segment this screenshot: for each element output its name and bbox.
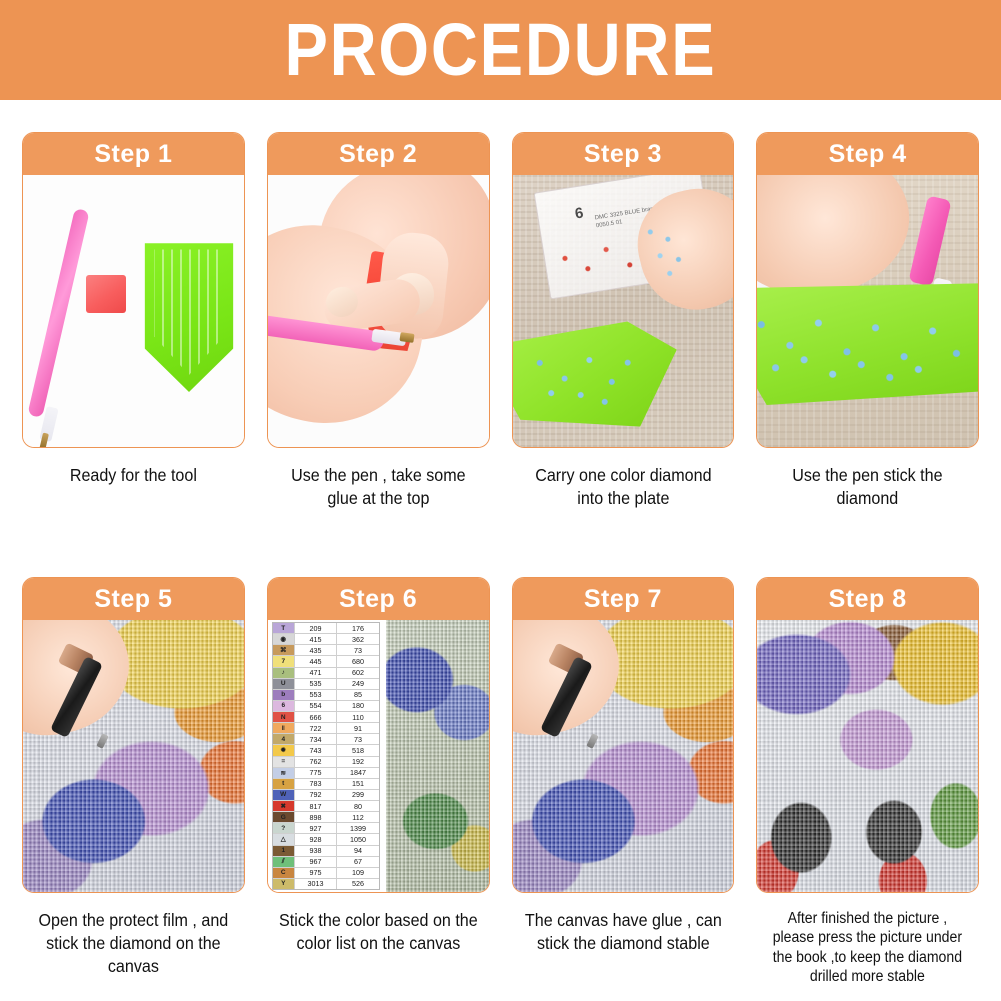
color-count-value: 602 <box>337 668 379 678</box>
color-chart-row: N666110 <box>273 712 379 723</box>
color-code-value: 975 <box>295 868 338 878</box>
procedure-infographic: PROCEDURE Step 1 Ready for the tool <box>0 0 1001 1001</box>
color-count-value: 680 <box>337 656 379 666</box>
step-1-card: Step 1 <box>22 132 245 448</box>
step-card-2: Step 2 Use the pen , take so <box>267 132 490 510</box>
color-chart-row: ⫽96767 <box>273 857 379 868</box>
color-symbol-swatch: 1 <box>273 846 295 856</box>
color-code-value: 762 <box>295 757 338 767</box>
step-6-label: Step 6 <box>339 585 417 614</box>
color-count-value: 1399 <box>337 823 379 833</box>
color-chart-row: ‖72291 <box>273 723 379 734</box>
color-chart-row: b55385 <box>273 690 379 701</box>
blue-diamonds-in-tray <box>757 307 978 387</box>
color-chart-row: 193894 <box>273 846 379 857</box>
color-count-value: 180 <box>337 701 379 711</box>
color-count-value: 73 <box>337 645 379 655</box>
color-symbol-swatch: 4 <box>273 734 295 744</box>
color-code-value: 435 <box>295 645 338 655</box>
step-4-card: Step 4 <box>756 132 979 448</box>
color-code-value: 535 <box>295 679 338 689</box>
color-chart-row: 7445680 <box>273 656 379 667</box>
step-4-label: Step 4 <box>829 140 907 169</box>
color-chart-row: 473473 <box>273 734 379 745</box>
step-5-header: Step 5 <box>23 578 244 620</box>
step-2-label: Step 2 <box>339 140 417 169</box>
color-code-value: 898 <box>295 812 338 822</box>
color-symbol-swatch: ? <box>273 823 295 833</box>
step-6-card: Step 6 T209176◉415362⌘435737445680♪47160… <box>267 577 490 893</box>
color-chart-row: 6554180 <box>273 701 379 712</box>
step-5-photo <box>23 620 244 892</box>
color-symbol-swatch: ≋ <box>273 768 295 778</box>
mosaic-canvas <box>386 620 489 892</box>
step-8-caption: After finished the picture , please pres… <box>765 909 970 987</box>
color-chart-row: G898112 <box>273 812 379 823</box>
color-symbol-swatch: = <box>273 757 295 767</box>
page-title: PROCEDURE <box>285 13 717 87</box>
color-count-value: 1050 <box>337 834 379 844</box>
color-count-value: 151 <box>337 779 379 789</box>
color-chart-row: ⌘43573 <box>273 645 379 656</box>
color-symbol-swatch: ♪ <box>273 668 295 678</box>
step-7-card: Step 7 <box>512 577 735 893</box>
color-symbol-swatch: Y <box>273 879 295 889</box>
step-4-photo <box>757 175 978 447</box>
step-card-3: Step 3 6 DMC 3325 BLUE brand 0050.5 01 C… <box>512 132 735 510</box>
color-code-value: 3013 <box>295 879 338 889</box>
color-symbol-swatch: C <box>273 868 295 878</box>
color-count-value: 110 <box>337 712 379 722</box>
color-count-value: 73 <box>337 734 379 744</box>
color-code-value: 734 <box>295 734 338 744</box>
blue-diamonds-in-tray <box>513 335 664 421</box>
color-code-value: 967 <box>295 857 338 867</box>
color-code-value: 743 <box>295 745 338 755</box>
color-code-value: 928 <box>295 834 338 844</box>
color-chart-row: C975109 <box>273 868 379 879</box>
step-1-photo <box>23 175 244 447</box>
color-symbol-swatch: ⌘ <box>273 645 295 655</box>
step-6-caption: Stick the color based on the color list … <box>276 909 481 955</box>
step-card-7: Step 7 The canvas have glue , can stick … <box>512 577 735 987</box>
color-code-value: 554 <box>295 701 338 711</box>
color-count-value: 192 <box>337 757 379 767</box>
step-7-caption: The canvas have glue , can stick the dia… <box>520 909 725 955</box>
step-3-label: Step 3 <box>584 140 662 169</box>
color-code-value: 792 <box>295 790 338 800</box>
color-symbol-swatch: U <box>273 679 295 689</box>
color-symbol-swatch: N <box>273 712 295 722</box>
step-card-6: Step 6 T209176◉415362⌘435737445680♪47160… <box>267 577 490 987</box>
color-symbol-swatch: ⫽ <box>273 857 295 867</box>
step-3-photo: 6 DMC 3325 BLUE brand 0050.5 01 <box>513 175 734 447</box>
step-4-caption: Use the pen stick the diamond <box>765 464 970 510</box>
color-code-value: 722 <box>295 723 338 733</box>
color-code-value: 209 <box>295 623 338 633</box>
color-count-value: 94 <box>337 846 379 856</box>
color-count-value: 85 <box>337 690 379 700</box>
glue-square-icon <box>86 275 126 313</box>
color-chart-row: W792299 <box>273 790 379 801</box>
color-chart-row: ◉415362 <box>273 634 379 645</box>
step-7-label: Step 7 <box>584 585 662 614</box>
color-chart-row: Y3013526 <box>273 879 379 889</box>
color-count-value: 67 <box>337 857 379 867</box>
color-code-value: 553 <box>295 690 338 700</box>
color-chart-row: ♪471602 <box>273 668 379 679</box>
step-8-card: Step 8 <box>756 577 979 893</box>
color-symbol-swatch: ◉ <box>273 634 295 644</box>
step-1-label: Step 1 <box>94 140 172 169</box>
color-count-value: 109 <box>337 868 379 878</box>
color-code-value: 445 <box>295 656 338 666</box>
color-count-value: 1847 <box>337 768 379 778</box>
color-code-chart: T209176◉415362⌘435737445680♪471602U53524… <box>272 622 380 890</box>
color-symbol-swatch: ✖ <box>273 801 295 811</box>
color-count-value: 362 <box>337 634 379 644</box>
color-symbol-swatch: b <box>273 690 295 700</box>
step-6-photo: T209176◉415362⌘435737445680♪471602U53524… <box>268 620 489 892</box>
step-4-header: Step 4 <box>757 133 978 175</box>
color-chart-row: U535249 <box>273 679 379 690</box>
step-8-photo <box>757 620 978 892</box>
color-code-value: 471 <box>295 668 338 678</box>
color-code-value: 938 <box>295 846 338 856</box>
step-8-label: Step 8 <box>829 585 907 614</box>
color-symbol-swatch: 7 <box>273 656 295 666</box>
color-symbol-swatch: ✹ <box>273 745 295 755</box>
color-count-value: 91 <box>337 723 379 733</box>
step-2-photo <box>268 175 489 447</box>
step-card-4: Step 4 Use the pen stick the diamond <box>756 132 979 510</box>
color-code-value: 415 <box>295 634 338 644</box>
color-chart-row: ?9271399 <box>273 823 379 834</box>
step-1-caption: Ready for the tool <box>31 464 236 487</box>
color-symbol-swatch: t <box>273 779 295 789</box>
color-count-value: 526 <box>337 879 379 889</box>
color-chart-row: ✖81780 <box>273 801 379 812</box>
color-count-value: 80 <box>337 801 379 811</box>
color-chart-row: t783151 <box>273 779 379 790</box>
color-code-value: 775 <box>295 768 338 778</box>
color-symbol-swatch: T <box>273 623 295 633</box>
steps-row-1: Step 1 Ready for the tool Step 2 <box>22 132 979 510</box>
step-5-card: Step 5 <box>22 577 245 893</box>
color-symbol-swatch: G <box>273 812 295 822</box>
color-symbol-swatch: △ <box>273 834 295 844</box>
color-count-value: 249 <box>337 679 379 689</box>
color-chart-row: △9281050 <box>273 834 379 845</box>
step-3-card: Step 3 6 DMC 3325 BLUE brand 0050.5 01 <box>512 132 735 448</box>
step-8-header: Step 8 <box>757 578 978 620</box>
color-code-value: 927 <box>295 823 338 833</box>
color-symbol-swatch: ‖ <box>273 723 295 733</box>
step-card-1: Step 1 Ready for the tool <box>22 132 245 510</box>
color-chart-row: T209176 <box>273 623 379 634</box>
page-banner: PROCEDURE <box>0 0 1001 100</box>
step-card-5: Step 5 Open the protect film , and stick… <box>22 577 245 987</box>
color-code-value: 666 <box>295 712 338 722</box>
color-code-value: 783 <box>295 779 338 789</box>
pink-pen-icon <box>27 208 89 418</box>
step-7-header: Step 7 <box>513 578 734 620</box>
color-chart-row: =762192 <box>273 757 379 768</box>
step-1-header: Step 1 <box>23 133 244 175</box>
step-2-caption: Use the pen , take some glue at the top <box>276 464 481 510</box>
color-symbol-swatch: 6 <box>273 701 295 711</box>
color-chart-row: ≋7751847 <box>273 768 379 779</box>
steps-row-2: Step 5 Open the protect film , and stick… <box>22 577 979 987</box>
color-code-value: 817 <box>295 801 338 811</box>
color-count-value: 176 <box>337 623 379 633</box>
step-7-photo <box>513 620 734 892</box>
color-count-value: 518 <box>337 745 379 755</box>
step-5-label: Step 5 <box>94 585 172 614</box>
color-count-value: 112 <box>337 812 379 822</box>
step-5-caption: Open the protect film , and stick the di… <box>31 909 236 978</box>
color-chart-row: ✹743518 <box>273 745 379 756</box>
color-count-value: 299 <box>337 790 379 800</box>
pen-nib-icon <box>399 332 414 343</box>
step-2-card: Step 2 <box>267 132 490 448</box>
step-6-header: Step 6 <box>268 578 489 620</box>
step-card-8: Step 8 After finished the picture , plea… <box>756 577 979 987</box>
step-3-caption: Carry one color diamond into the plate <box>520 464 725 510</box>
step-2-header: Step 2 <box>268 133 489 175</box>
color-symbol-swatch: W <box>273 790 295 800</box>
finished-mosaic-canvas <box>757 620 978 892</box>
step-3-header: Step 3 <box>513 133 734 175</box>
